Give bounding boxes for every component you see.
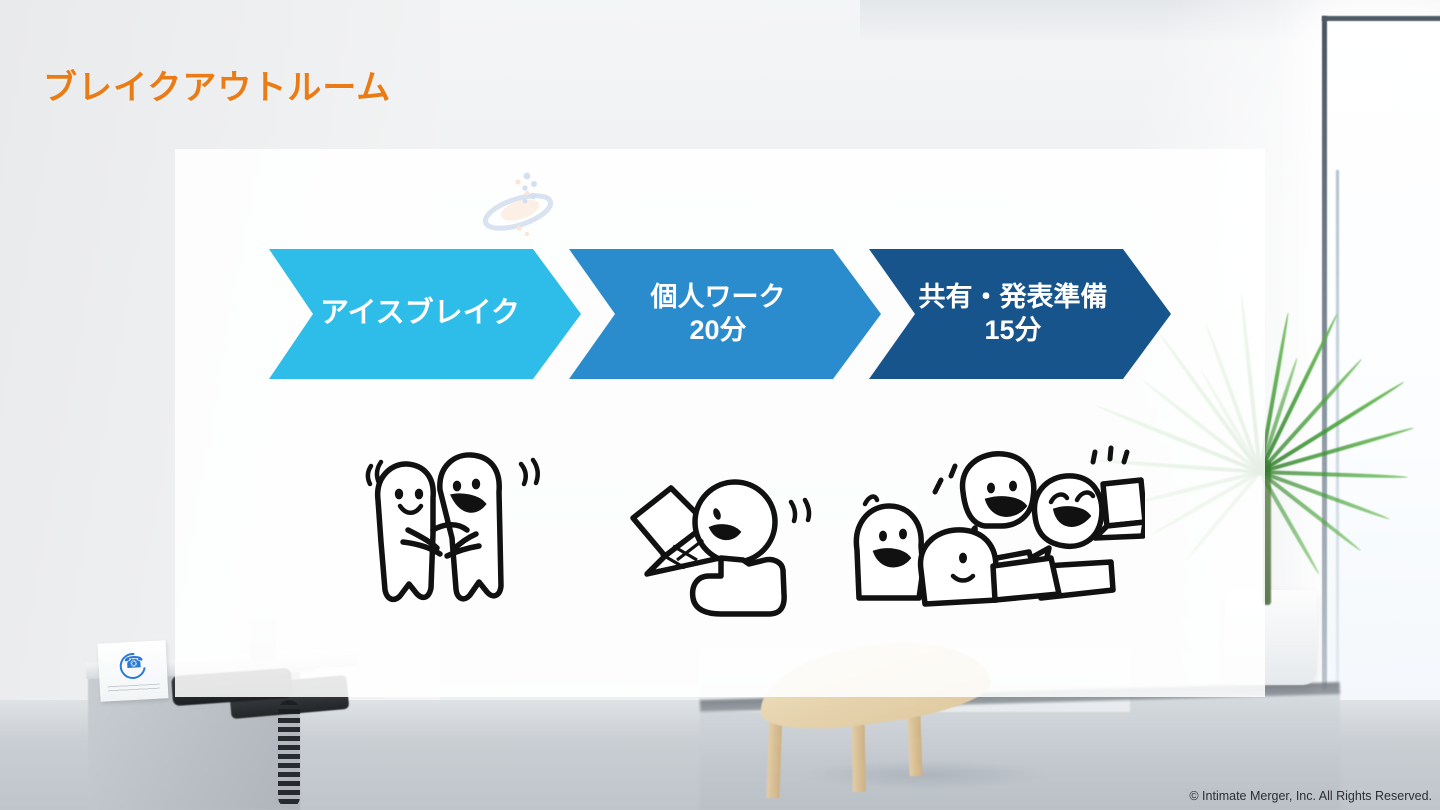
process-step-2-duration: 20分 bbox=[651, 314, 786, 347]
desk-phone-cord bbox=[278, 700, 300, 808]
group-presenting-doodle bbox=[845, 440, 1145, 615]
process-step-3-duration: 15分 bbox=[919, 314, 1108, 347]
two-people-greeting-doodle bbox=[345, 438, 560, 618]
window-frame-top bbox=[1322, 16, 1440, 21]
process-step-individual-work[interactable]: 個人ワーク 20分 bbox=[569, 249, 881, 379]
plant-leaf bbox=[1259, 470, 1390, 521]
process-step-icebreak[interactable]: アイスブレイク bbox=[269, 249, 581, 379]
copyright-footer: © Intimate Merger, Inc. All Rights Reser… bbox=[1189, 789, 1432, 803]
process-step-share-prepare[interactable]: 共有・発表準備 15分 bbox=[869, 249, 1171, 379]
bench-shadow bbox=[800, 760, 1050, 790]
phone-icon bbox=[114, 648, 150, 684]
page-title: ブレイクアウトルーム bbox=[43, 60, 391, 109]
person-at-laptop-doodle bbox=[625, 470, 825, 620]
process-chevron-bar: アイスブレイク 個人ワーク 20分 共有・発表準備 15分 bbox=[269, 249, 1171, 379]
slide-canvas: ブレイクアウトルーム アイスブレイク 個人ワーク bbox=[0, 0, 1440, 810]
plant-leaf bbox=[1259, 470, 1362, 552]
notice-card-text bbox=[108, 683, 160, 694]
process-step-2-label: 個人ワーク bbox=[651, 281, 786, 314]
process-step-1-label: アイスブレイク bbox=[320, 296, 520, 331]
illustration-row bbox=[175, 420, 1265, 640]
process-step-3-label: 共有・発表準備 bbox=[919, 281, 1108, 314]
reception-notice-card bbox=[98, 640, 169, 701]
